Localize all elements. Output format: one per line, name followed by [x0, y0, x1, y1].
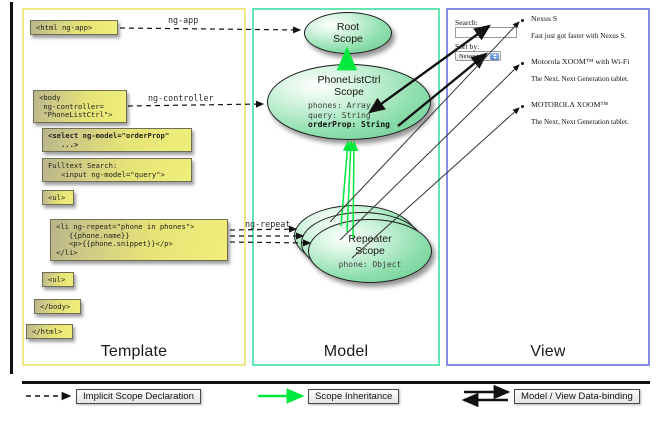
legend-item-scope-inheritance: Scope Inheritance [308, 389, 399, 404]
legend-item-model-view-data-binding: Model / View Data-binding [514, 389, 640, 404]
legend-glyph-layer [0, 0, 661, 425]
legend-item-implicit-scope-declaration: Implicit Scope Declaration [76, 389, 201, 404]
diagram-canvas: Template Model View <html ng-app> <body … [0, 0, 661, 425]
